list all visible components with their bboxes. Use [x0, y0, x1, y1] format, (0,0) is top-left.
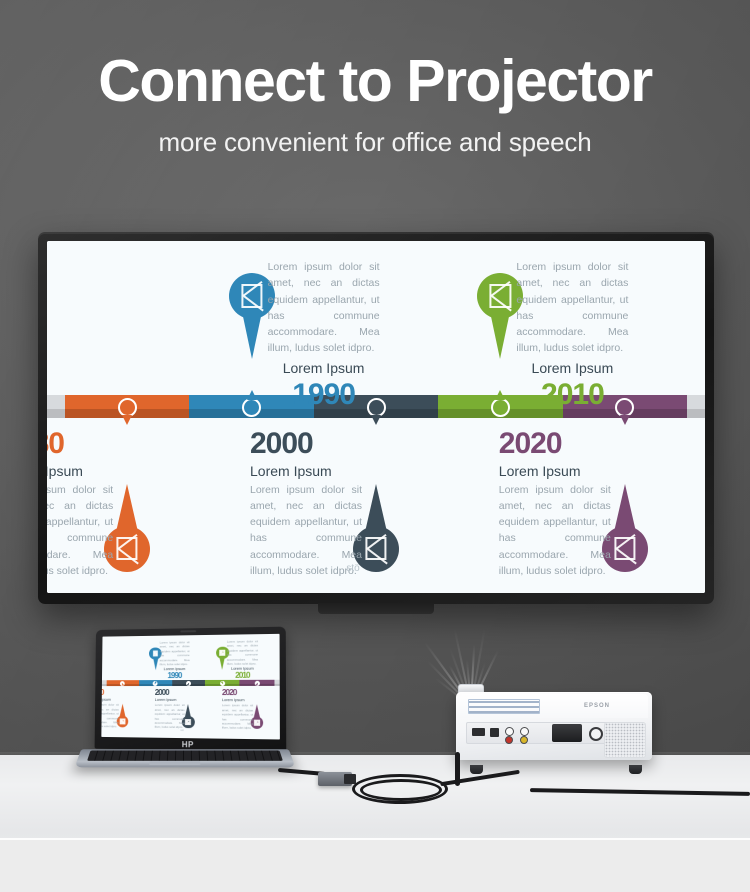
- milestone-column-2020: 2020Lorem IpsumLorem ipsum dolor sit ame…: [499, 428, 611, 579]
- timeline-marker-2010[interactable]: [220, 681, 225, 686]
- milestone-body-text: Lorem ipsum dolor sit amet, nec an dicta…: [499, 482, 611, 580]
- image-placeholder-icon: [185, 719, 191, 726]
- audio-port-white[interactable]: [505, 727, 514, 736]
- milestone-body-text: Lorem ipsum dolor sit amet, nec an dicta…: [160, 640, 190, 667]
- milestone-year: 2000: [155, 689, 185, 698]
- usb-b-port[interactable]: [490, 728, 499, 737]
- video-port-white[interactable]: [520, 727, 529, 736]
- milestone-column-2010: Lorem ipsum dolor sit amet, nec an dicta…: [227, 639, 258, 680]
- milestone-label: Lorem Ipsum: [47, 463, 113, 479]
- projector-foot-right: [629, 765, 642, 774]
- milestone-year: 1980: [101, 689, 119, 697]
- laptop-trackpad[interactable]: [149, 762, 200, 766]
- milestone-column-2020: 2020Lorem IpsumLorem ipsum dolor sit ame…: [222, 689, 253, 731]
- pin-tail: [116, 484, 138, 532]
- milestone-label: Lorem Ipsum: [516, 360, 628, 376]
- laptop-keyboard[interactable]: [87, 751, 283, 761]
- milestone-year: 1990: [268, 379, 380, 411]
- milestone-column-2000: 2000Lorem IpsumLorem ipsum dolor sit ame…: [155, 689, 185, 730]
- milestone-label: Lorem Ipsum: [222, 699, 253, 703]
- header: Connect to Projector more convenient for…: [0, 52, 750, 158]
- pin-tail: [241, 307, 263, 359]
- timeline-cap-left: [47, 395, 65, 418]
- milestone-body-text: Lorem ipsum dolor sit amet, nec an dicta…: [155, 703, 185, 730]
- pin-tail: [614, 484, 636, 532]
- timeline-marker-1990[interactable]: [242, 398, 261, 417]
- laptop-lid: 1980Lorem IpsumLorem ipsum dolor sit ame…: [95, 627, 287, 752]
- page-title: Connect to Projector: [0, 52, 750, 111]
- milestone-year: 2020: [222, 689, 253, 698]
- image-placeholder-icon: [254, 719, 260, 726]
- milestone-column-2000: 2000Lorem IpsumLorem ipsum dolor sit ame…: [250, 428, 362, 579]
- image-placeholder-icon: [365, 537, 386, 561]
- milestone-label: Lorem Ipsum: [250, 463, 362, 479]
- timeline-marker-2010[interactable]: [491, 398, 510, 417]
- image-placeholder-icon: [220, 650, 226, 657]
- timeline-marker-2000[interactable]: [186, 681, 191, 686]
- milestone-year: 2010: [227, 672, 258, 681]
- milestone-body-text: Lorem ipsum dolor sit amet, nec an dicta…: [47, 482, 113, 580]
- timeline-cap-right: [687, 395, 705, 418]
- projector-control-panel[interactable]: [468, 699, 540, 714]
- milestone-year: 2020: [499, 428, 611, 460]
- milestone-year: 2010: [516, 379, 628, 411]
- pin-tail: [152, 657, 158, 671]
- laptop-webcam-icon: [180, 630, 196, 632]
- projector-foot-left: [470, 765, 483, 774]
- image-placeholder-icon: [153, 650, 159, 656]
- pin-tail: [489, 307, 511, 359]
- slide-watermark: stö: [180, 729, 184, 732]
- infographic-slide: 1980Lorem IpsumLorem ipsum dolor sit ame…: [47, 241, 705, 593]
- usb-a-port[interactable]: [472, 728, 485, 736]
- image-placeholder-icon: [241, 284, 262, 308]
- milestone-year: 1980: [47, 428, 113, 460]
- pin-tail: [219, 656, 225, 670]
- video-port-yellow[interactable]: [520, 736, 528, 744]
- timeline-marker-2000[interactable]: [367, 398, 386, 417]
- power-inlet[interactable]: [589, 727, 603, 741]
- image-placeholder-icon: [490, 284, 511, 308]
- image-placeholder-icon: [117, 537, 138, 561]
- milestone-body-text: Lorem ipsum dolor sit amet, nec an dicta…: [250, 482, 362, 580]
- page-subtitle: more convenient for office and speech: [0, 127, 750, 158]
- cable-loop-inner: [360, 779, 442, 801]
- milestone-body-text: Lorem ipsum dolor sit amet, nec an dicta…: [516, 259, 628, 357]
- vga-plug-connected[interactable]: [552, 724, 582, 742]
- milestone-body-text: Lorem ipsum dolor sit amet, nec an dicta…: [222, 703, 253, 730]
- timeline-marker-1980[interactable]: [118, 398, 137, 417]
- milestone-label: Lorem Ipsum: [499, 463, 611, 479]
- image-placeholder-icon: [614, 537, 635, 561]
- projector-top: EPSON: [460, 694, 648, 718]
- desk-front-panel: [0, 840, 750, 892]
- timeline-marker-2020[interactable]: [254, 681, 259, 686]
- milestone-column-2010: Lorem ipsum dolor sit amet, nec an dicta…: [516, 259, 628, 410]
- milestone-column-1980: 1980Lorem IpsumLorem ipsum dolor sit ame…: [101, 689, 119, 729]
- milestone-body-text: Lorem ipsum dolor sit amet, nec an dicta…: [101, 703, 118, 729]
- pin-tail: [254, 705, 260, 718]
- timeline-cap-right: [275, 680, 280, 686]
- projector-body: EPSON: [456, 692, 652, 760]
- pin-tail: [119, 704, 125, 717]
- projector-brand-logo: EPSON: [584, 703, 610, 709]
- laptop: 1980Lorem IpsumLorem ipsum dolor sit ame…: [78, 628, 292, 768]
- milestone-column-1980: 1980Lorem IpsumLorem ipsum dolor sit ame…: [47, 428, 113, 579]
- projector-port-panel: [466, 722, 614, 744]
- pin-tail: [185, 704, 191, 717]
- laptop-base: [75, 749, 296, 767]
- cable-power: [455, 752, 460, 786]
- milestone-column-1990: Lorem ipsum dolor sit amet, nec an dicta…: [160, 640, 190, 681]
- milestone-label: Lorem Ipsum: [268, 360, 380, 376]
- laptop-screen: 1980Lorem IpsumLorem ipsum dolor sit ame…: [101, 634, 280, 740]
- vga-adapter-tip: [344, 774, 356, 784]
- milestone-label: Lorem Ipsum: [155, 698, 185, 702]
- milestone-body-text: Lorem ipsum dolor sit amet, nec an dicta…: [268, 259, 380, 357]
- slide-watermark: stö: [346, 563, 359, 574]
- milestone-body-text: Lorem ipsum dolor sit amet, nec an dicta…: [227, 639, 258, 666]
- milestone-year: 2000: [250, 428, 362, 460]
- pin-tail: [365, 484, 387, 532]
- milestone-year: 1990: [160, 672, 190, 681]
- milestone-column-1990: Lorem ipsum dolor sit amet, nec an dicta…: [268, 259, 380, 410]
- laptop-brand-logo: HP: [182, 740, 194, 749]
- infographic-slide-mirror: 1980Lorem IpsumLorem ipsum dolor sit ame…: [101, 634, 280, 740]
- image-placeholder-icon: [119, 718, 125, 724]
- projector: EPSON: [448, 684, 656, 774]
- tv-stand: [318, 603, 434, 614]
- tv-screen: 1980Lorem IpsumLorem ipsum dolor sit ame…: [47, 241, 705, 593]
- projector-speaker-grille: [604, 722, 646, 758]
- milestone-label: Lorem Ipsum: [101, 698, 119, 702]
- tv-display: 1980Lorem IpsumLorem ipsum dolor sit ame…: [38, 232, 714, 604]
- audio-port-red[interactable]: [505, 736, 513, 744]
